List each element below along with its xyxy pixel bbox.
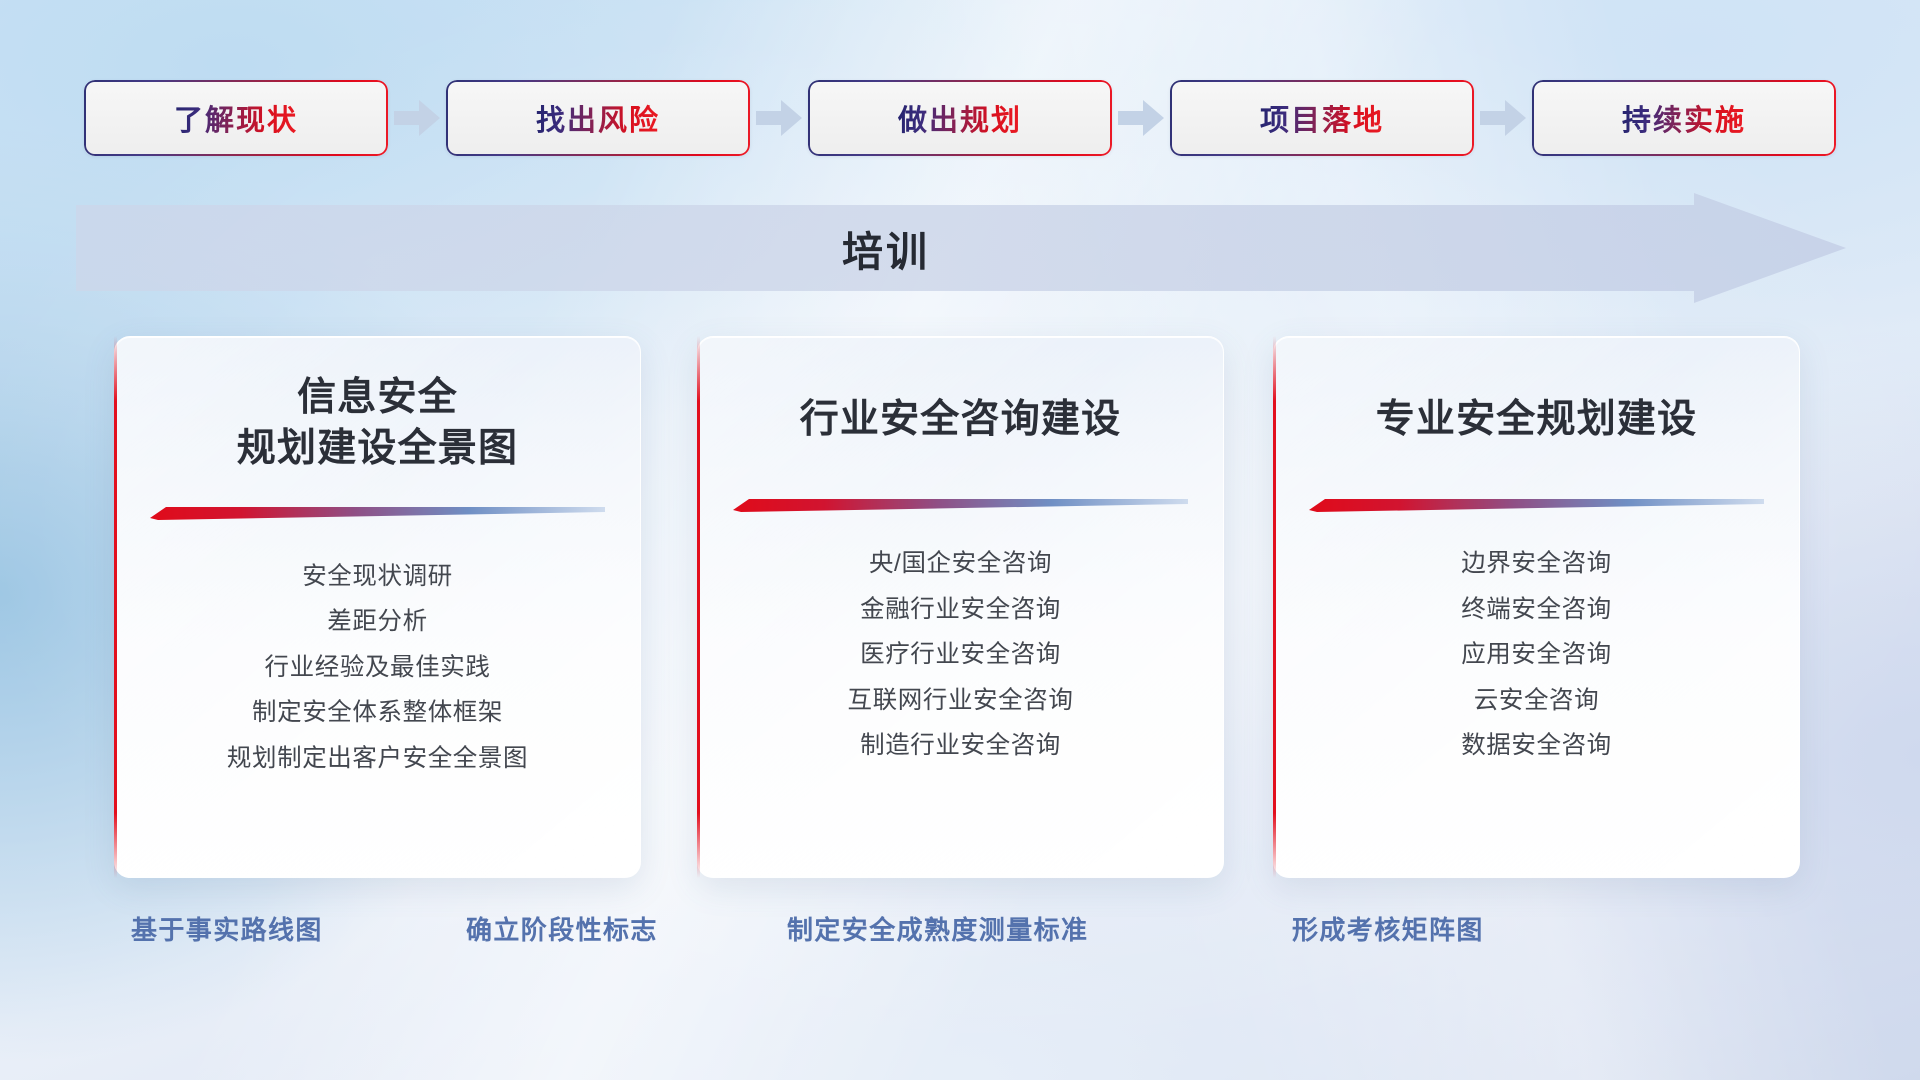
list-item[interactable]: 边界安全咨询 <box>1461 542 1612 588</box>
card-divider-2 <box>733 496 1188 512</box>
card-row: 信息安全 规划建设全景图 安全现状调研 <box>0 336 1920 878</box>
list-item[interactable]: 数据安全咨询 <box>1461 724 1612 770</box>
card-divider-1 <box>150 504 605 520</box>
card-inner-2: 行业安全咨询建设 央/国企安全咨询 <box>698 337 1223 877</box>
step-label-2: 找出风险 <box>536 97 660 139</box>
step-wrap-5: 持续实施 <box>1532 80 1836 156</box>
card-accent-edge-2 <box>697 336 700 878</box>
step-wrap-1: 了解现状 <box>84 80 388 156</box>
card-inner-1: 信息安全 规划建设全景图 安全现状调研 <box>115 337 640 877</box>
step-box-4[interactable]: 项目落地 <box>1170 80 1474 156</box>
card-title-1: 信息安全 规划建设全景图 <box>237 373 518 474</box>
step-label-1: 了解现状 <box>174 97 298 139</box>
training-band: 培训 <box>76 193 1846 303</box>
arrow-right-icon <box>388 79 446 157</box>
list-item[interactable]: 互联网行业安全咨询 <box>848 678 1074 724</box>
step-wrap-2: 找出风险 <box>446 80 750 156</box>
list-item[interactable]: 云安全咨询 <box>1474 678 1600 724</box>
card-industry-security-consulting[interactable]: 行业安全咨询建设 央/国企安全咨询 <box>697 336 1224 878</box>
step-box-3[interactable]: 做出规划 <box>808 80 1112 156</box>
card-professional-security-planning[interactable]: 专业安全规划建设 边界安全咨询 <box>1273 336 1800 878</box>
arrow-right-icon <box>1112 79 1170 157</box>
process-step-flow: 了解现状 找出风险 做出规划 项目落地 <box>0 79 1920 157</box>
card-information-security-blueprint[interactable]: 信息安全 规划建设全景图 安全现状调研 <box>114 336 641 878</box>
footnote-label-3: 制定安全成熟度测量标准 <box>787 910 1088 947</box>
arrow-right-icon <box>1474 79 1532 157</box>
footnote-label-2: 确立阶段性标志 <box>466 910 658 947</box>
card-divider-3 <box>1309 496 1764 512</box>
step-label-4: 项目落地 <box>1260 97 1384 139</box>
list-item[interactable]: 差距分析 <box>327 600 427 646</box>
card-title-2: 行业安全咨询建设 <box>800 395 1122 446</box>
list-item[interactable]: 安全现状调研 <box>302 554 453 600</box>
card-inner-3: 专业安全规划建设 边界安全咨询 <box>1274 337 1799 877</box>
footnote-label-1: 基于事实路线图 <box>131 910 323 947</box>
step-box-1[interactable]: 了解现状 <box>84 80 388 156</box>
list-item[interactable]: 医疗行业安全咨询 <box>860 633 1061 679</box>
step-wrap-4: 项目落地 <box>1170 80 1474 156</box>
list-item[interactable]: 行业经验及最佳实践 <box>265 645 491 691</box>
card-list-3: 边界安全咨询 终端安全咨询 应用安全咨询 云安全咨询 数据安全咨询 <box>1274 512 1799 810</box>
card-accent-edge-3 <box>1273 336 1276 878</box>
step-wrap-3: 做出规划 <box>808 80 1112 156</box>
card-list-2: 央/国企安全咨询 金融行业安全咨询 医疗行业安全咨询 互联网行业安全咨询 制造行… <box>698 512 1223 810</box>
list-item[interactable]: 应用安全咨询 <box>1461 633 1612 679</box>
arrow-right-icon <box>750 79 808 157</box>
list-item[interactable]: 制定安全体系整体框架 <box>252 691 503 737</box>
list-item[interactable]: 金融行业安全咨询 <box>860 587 1061 633</box>
step-label-3: 做出规划 <box>898 97 1022 139</box>
step-box-5[interactable]: 持续实施 <box>1532 80 1836 156</box>
step-box-2[interactable]: 找出风险 <box>446 80 750 156</box>
footnote-row: 基于事实路线图 确立阶段性标志 制定安全成熟度测量标准 形成考核矩阵图 <box>0 910 1920 970</box>
card-list-1: 安全现状调研 差距分析 行业经验及最佳实践 制定安全体系整体框架 规划制定出客户… <box>115 524 640 822</box>
card-title-3: 专业安全规划建设 <box>1376 395 1698 446</box>
training-band-text-wrap: 培训 <box>76 193 1846 303</box>
step-label-5: 持续实施 <box>1622 97 1746 139</box>
list-item[interactable]: 制造行业安全咨询 <box>860 724 1061 770</box>
training-band-label: 培训 <box>842 218 930 278</box>
card-accent-edge-1 <box>114 336 117 878</box>
list-item[interactable]: 规划制定出客户安全全景图 <box>227 736 528 782</box>
list-item[interactable]: 终端安全咨询 <box>1461 587 1612 633</box>
footnote-label-4: 形成考核矩阵图 <box>1292 910 1484 947</box>
list-item[interactable]: 央/国企安全咨询 <box>869 542 1052 588</box>
